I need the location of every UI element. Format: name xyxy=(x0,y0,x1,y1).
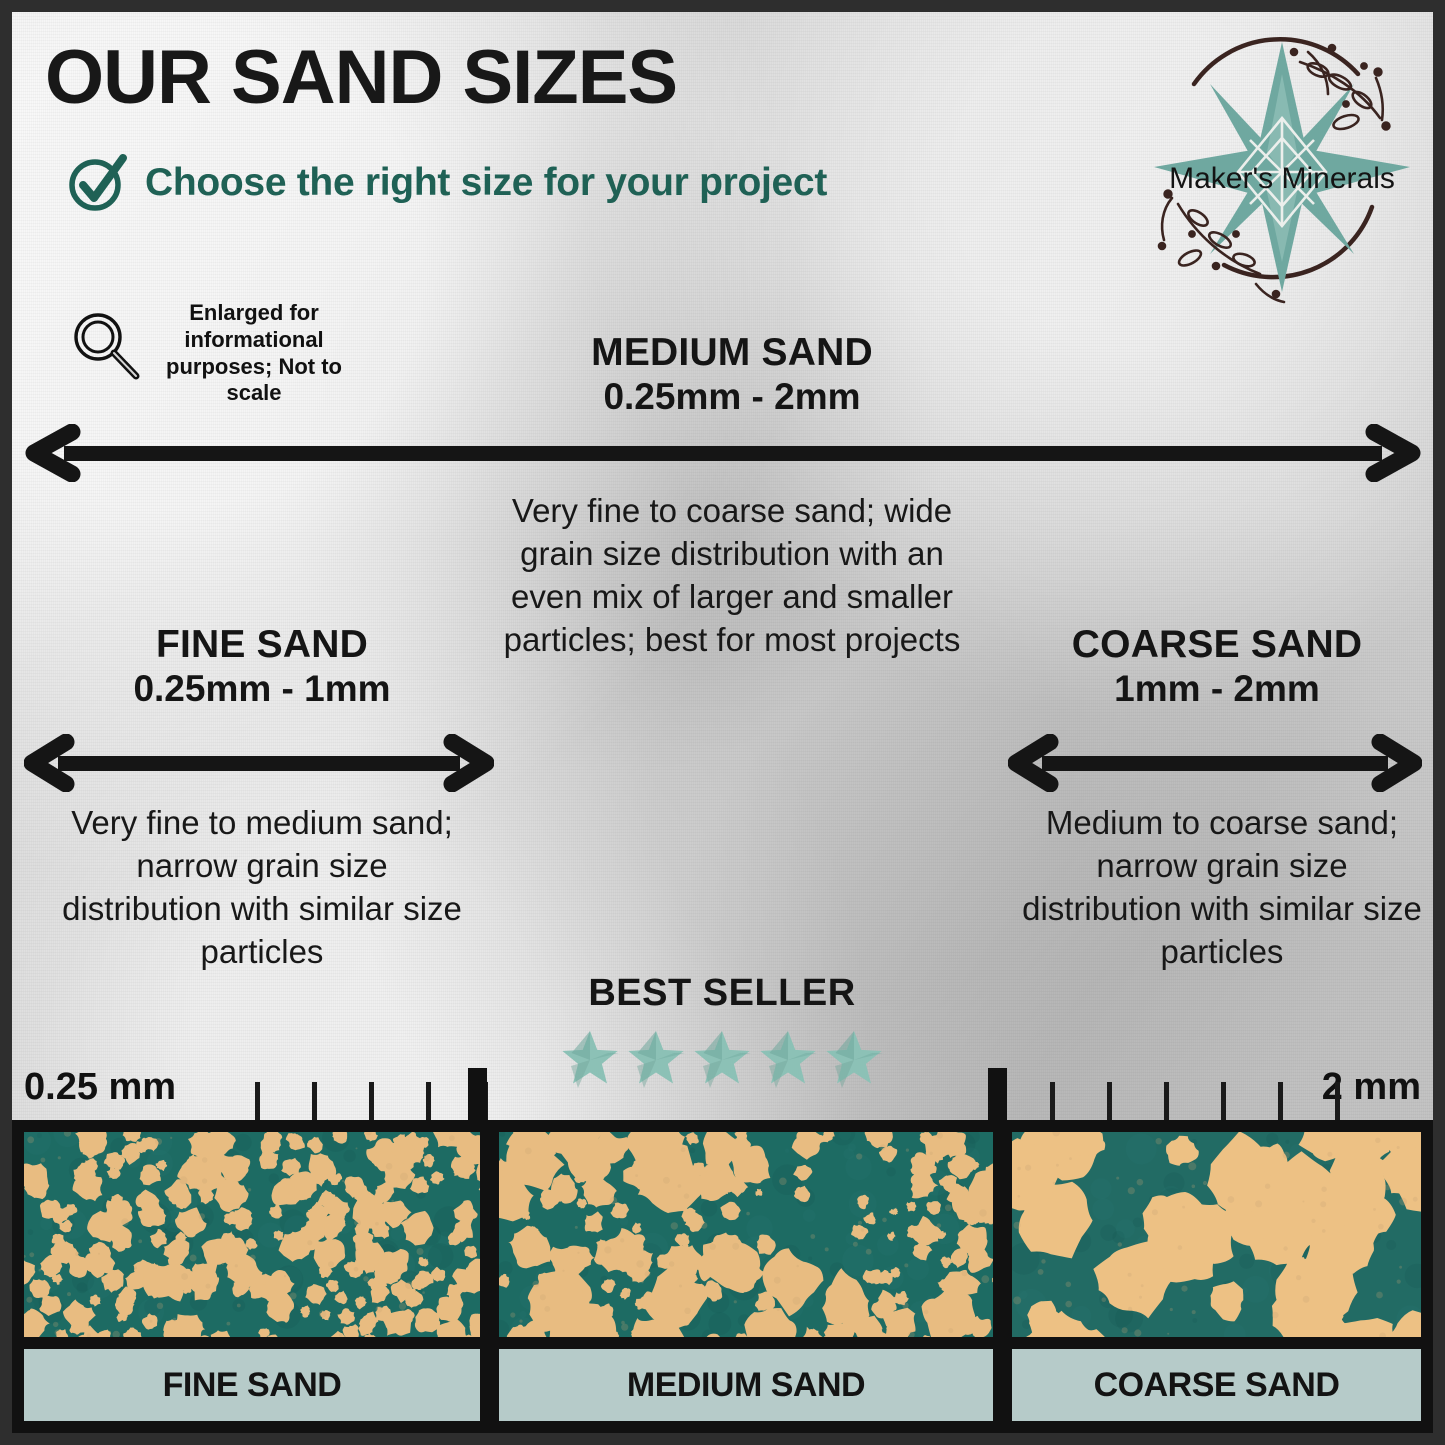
ruler-tick xyxy=(1050,1082,1055,1120)
medium-sand-title: MEDIUM SAND xyxy=(452,330,1012,375)
coarse-sand-range: 1mm - 2mm xyxy=(1012,667,1422,711)
fine-range-arrow xyxy=(24,734,494,792)
coarse-sand-swatch xyxy=(1012,1132,1421,1337)
ruler-tick xyxy=(312,1082,317,1120)
medium-sand-swatch xyxy=(499,1132,993,1337)
coarse-sand-description: Medium to coarse sand; narrow grain size… xyxy=(1022,802,1422,974)
best-seller-label: BEST SELLER xyxy=(492,972,952,1015)
coarse-sand-panel-label: COARSE SAND xyxy=(1012,1349,1421,1421)
fine-sand-heading: FINE SAND 0.25mm - 1mm xyxy=(52,622,472,712)
brand-name: Maker's Minerals xyxy=(1132,162,1432,196)
fine-sand-title: FINE SAND xyxy=(52,622,472,667)
subtitle-text: Choose the right size for your project xyxy=(145,161,827,205)
medium-range-arrow xyxy=(24,424,1422,482)
fine-sand-panel[interactable]: FINE SAND xyxy=(24,1120,480,1433)
coarse-sand-title: COARSE SAND xyxy=(1012,622,1422,667)
medium-sand-description: Very fine to coarse sand; wide grain siz… xyxy=(482,490,982,662)
ruler-tick xyxy=(1164,1082,1169,1120)
magnifier-note-text: Enlarged for informational purposes; Not… xyxy=(159,300,349,407)
coarse-sand-panel[interactable]: COARSE SAND xyxy=(1012,1120,1421,1433)
page-title: OUR SAND SIZES xyxy=(45,34,677,121)
medium-sand-panel[interactable]: MEDIUM SAND xyxy=(499,1120,993,1433)
magnifier-note: Enlarged for informational purposes; Not… xyxy=(67,300,349,407)
ruler-tick xyxy=(1107,1082,1112,1120)
medium-sand-range: 0.25mm - 2mm xyxy=(452,375,1012,419)
fine-sand-panel-label: FINE SAND xyxy=(24,1349,480,1421)
medium-sand-heading: MEDIUM SAND 0.25mm - 2mm xyxy=(452,330,1012,420)
ruler-tick xyxy=(1278,1082,1283,1120)
sand-swatch-panels: FINE SAND MEDIUM SAND COARSE SAND xyxy=(12,1120,1433,1433)
fine-sand-range: 0.25mm - 1mm xyxy=(52,667,472,711)
fine-sand-swatch xyxy=(24,1132,480,1337)
medium-sand-panel-label: MEDIUM SAND xyxy=(499,1349,993,1421)
fine-sand-description: Very fine to medium sand; narrow grain s… xyxy=(52,802,472,974)
magnifier-icon xyxy=(67,308,145,386)
ruler-tick xyxy=(369,1082,374,1120)
poster-frame: OUR SAND SIZES Choose the right size for… xyxy=(0,0,1445,1445)
ruler-tick xyxy=(426,1082,431,1120)
brand-logo: Maker's Minerals xyxy=(1132,22,1432,312)
coarse-sand-heading: COARSE SAND 1mm - 2mm xyxy=(1012,622,1422,712)
ruler-label-left: 0.25 mm xyxy=(24,1066,176,1109)
poster-canvas: OUR SAND SIZES Choose the right size for… xyxy=(12,12,1433,1433)
subtitle-row: Choose the right size for your project xyxy=(67,152,827,214)
ruler-tick xyxy=(1335,1082,1340,1120)
ruler-tick xyxy=(1221,1082,1226,1120)
ruler-tick xyxy=(255,1082,260,1120)
check-circle-icon xyxy=(67,152,129,214)
coarse-range-arrow xyxy=(1008,734,1422,792)
